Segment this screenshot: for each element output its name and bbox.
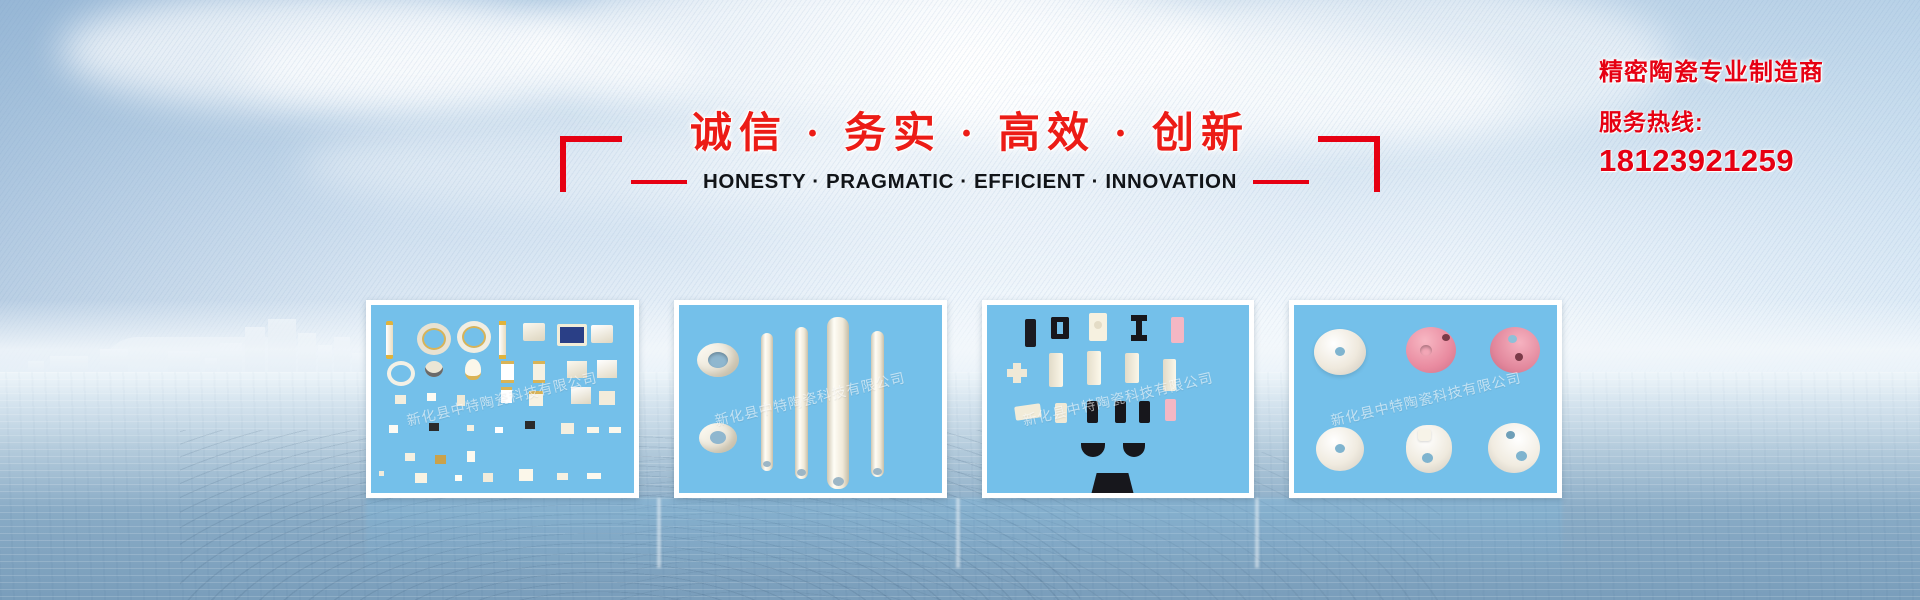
ceramic-part	[533, 361, 545, 383]
ceramic-part	[495, 427, 503, 433]
ceramic-part	[523, 323, 545, 341]
ceramic-tube	[827, 317, 849, 489]
ring-hole	[708, 352, 728, 368]
product-panel[interactable]: 新化县中特陶瓷科技有限公司	[366, 300, 639, 498]
ceramic-cross	[1007, 369, 1027, 377]
ceramic-part	[405, 453, 415, 461]
ceramic-nozzle	[1488, 423, 1540, 473]
ceramic-part	[1087, 401, 1098, 423]
fitting-tab	[1418, 429, 1431, 441]
ceramic-part	[1115, 401, 1126, 423]
ceramic-part	[1087, 351, 1101, 385]
tube-bore	[873, 468, 882, 475]
ceramic-part	[457, 395, 465, 406]
panel-reflection-seam	[956, 498, 960, 568]
panel-reflection	[366, 498, 1562, 576]
ceramic-part	[1025, 319, 1036, 347]
rule-left	[631, 180, 687, 184]
slogan-english-row: HONESTY · PRAGMATIC · EFFICIENT · INNOVA…	[560, 170, 1380, 194]
ceramic-part	[417, 323, 451, 355]
ceramic-part	[501, 387, 512, 403]
panel-reflection-seam	[657, 498, 661, 568]
rule-right	[1253, 180, 1309, 184]
part-slot	[1057, 322, 1063, 334]
ceramic-part	[429, 423, 439, 431]
ceramic-part	[609, 427, 621, 433]
product-panel[interactable]: 新化县中特陶瓷科技有限公司	[674, 300, 947, 498]
ceramic-part	[387, 361, 415, 386]
tube-bore	[763, 461, 771, 467]
ceramic-tube	[795, 327, 808, 479]
ceramic-part	[519, 469, 533, 481]
ceramic-part	[529, 391, 543, 406]
ceramic-part	[567, 361, 587, 378]
product-image: 新化县中特陶瓷科技有限公司	[679, 305, 942, 493]
slogan-chinese: 诚信 · 务实 · 高效 · 创新	[560, 108, 1380, 160]
product-gallery: 新化县中特陶瓷科技有限公司 新化县中特陶瓷科技有限公司	[366, 300, 1562, 498]
ceramic-part	[389, 425, 398, 433]
hero-banner: 诚信 · 务实 · 高效 · 创新 HONESTY · PRAGMATIC · …	[0, 0, 1920, 600]
cloud	[240, 20, 700, 110]
ceramic-part	[557, 473, 568, 480]
ceramic-part	[1165, 399, 1176, 421]
ceramic-part	[1125, 353, 1139, 383]
ceramic-part	[1131, 335, 1147, 341]
product-panel[interactable]: 新化县中特陶瓷科技有限公司	[982, 300, 1255, 498]
ring-hole	[710, 431, 726, 444]
ceramic-part	[457, 321, 491, 353]
hotline-number[interactable]: 18123921259	[1599, 143, 1824, 179]
ceramic-part	[1049, 353, 1063, 387]
company-tagline: 精密陶瓷专业制造商	[1599, 52, 1824, 87]
part-hole	[1094, 321, 1102, 329]
ceramic-part	[499, 321, 506, 359]
tube-bore	[797, 469, 806, 476]
ceramic-part	[587, 427, 599, 433]
ceramic-part	[483, 473, 493, 482]
ceramic-tube	[871, 331, 884, 477]
ceramic-block	[1091, 473, 1135, 493]
tube-bore	[833, 477, 844, 486]
hotline-label: 服务热线:	[1599, 103, 1824, 137]
ceramic-part	[455, 475, 462, 481]
product-image: 新化县中特陶瓷科技有限公司	[1294, 305, 1557, 493]
slogan-english: HONESTY · PRAGMATIC · EFFICIENT · INNOVA…	[703, 170, 1237, 194]
ceramic-part	[561, 423, 574, 434]
ceramic-nozzle	[1490, 327, 1540, 373]
product-image: 新化县中特陶瓷科技有限公司	[371, 305, 634, 493]
ceramic-part	[395, 395, 406, 404]
ceramic-part	[557, 324, 587, 346]
ceramic-part	[1014, 403, 1042, 420]
ceramic-part	[1136, 320, 1142, 336]
ceramic-part	[591, 325, 613, 343]
ceramic-part	[587, 473, 601, 479]
ceramic-part	[1171, 317, 1184, 343]
ceramic-part	[467, 425, 474, 431]
ceramic-part	[465, 359, 481, 380]
product-image: 新化县中特陶瓷科技有限公司	[987, 305, 1250, 493]
cloud	[520, 0, 1220, 120]
ceramic-arc	[1123, 443, 1145, 457]
ceramic-part	[525, 421, 535, 429]
ceramic-part	[435, 455, 446, 464]
ceramic-part	[1163, 359, 1176, 391]
product-panel[interactable]: 新化县中特陶瓷科技有限公司	[1289, 300, 1562, 498]
image-watermark: 新化县中特陶瓷科技有限公司	[1328, 367, 1523, 430]
ceramic-part	[467, 451, 475, 462]
ceramic-tube	[761, 333, 773, 471]
ceramic-part	[415, 473, 427, 483]
ceramic-part	[597, 360, 617, 378]
ceramic-part	[386, 321, 393, 359]
ceramic-part	[379, 471, 384, 476]
ceramic-part	[571, 387, 591, 404]
ceramic-part	[1139, 401, 1150, 423]
ceramic-part	[501, 361, 514, 383]
panel-reflection-seam	[1255, 498, 1259, 568]
contact-block: 精密陶瓷专业制造商 服务热线: 18123921259	[1599, 52, 1824, 179]
ceramic-arc	[1081, 443, 1105, 457]
ceramic-part	[427, 393, 436, 401]
cloud	[60, 0, 580, 110]
ceramic-part	[1055, 403, 1067, 423]
ceramic-part	[425, 361, 443, 377]
ceramic-part	[599, 391, 615, 405]
slogan-block: 诚信 · 务实 · 高效 · 创新 HONESTY · PRAGMATIC · …	[560, 108, 1380, 208]
